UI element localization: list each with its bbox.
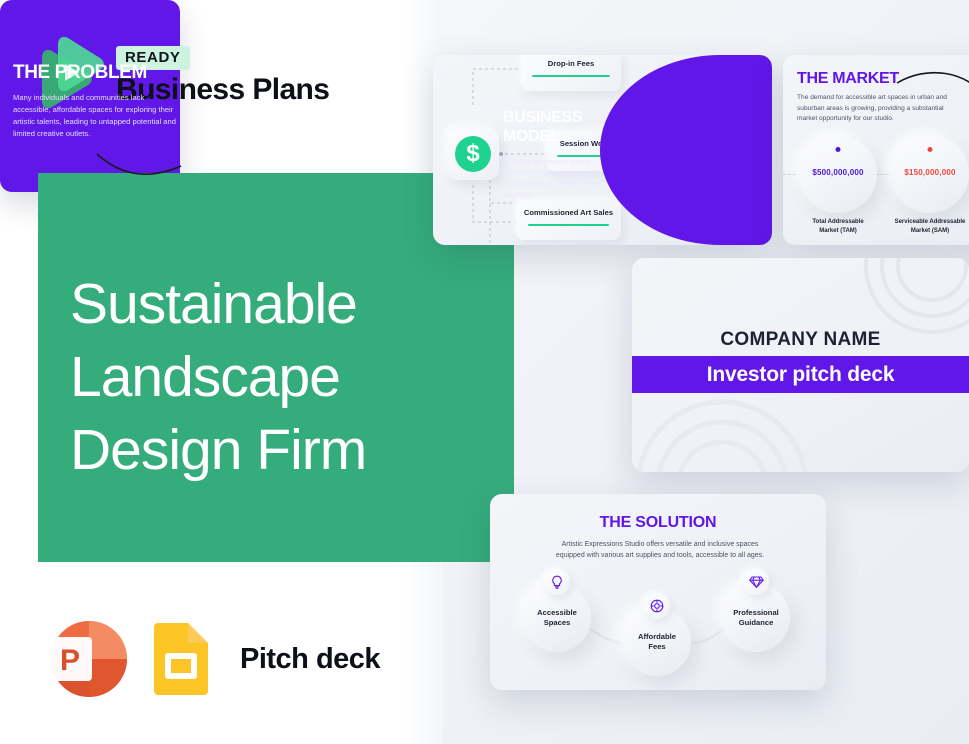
problem-curved-line [95,150,180,190]
metric-dot-icon [928,147,933,152]
page-root: READY Business Plans Sustainable Landsca… [0,0,969,744]
target-icon [644,593,670,619]
pillar-label-line-1: Accessible [523,608,591,618]
market-title: THE MARKET [797,70,899,88]
caption-line-2: Market (TAM) [795,227,881,236]
google-slides-icon [150,623,212,695]
slide-company-name[interactable]: COMPANY NAME Investor pitch deck [632,258,969,472]
market-metric-amount: $500,000,000 [799,168,877,177]
metric-dot-icon [836,147,841,152]
business-model-body: Revenue generation through diverse strea… [503,156,607,200]
market-connector-middle [876,174,892,175]
slide-the-market[interactable]: THE MARKET The demand for accessible art… [783,55,969,245]
market-metric-tam[interactable]: $500,000,000 [799,135,877,213]
underline-accent [528,224,610,226]
company-name-title: COMPANY NAME [632,329,969,351]
market-body: The demand for accessible art spaces in … [797,93,953,125]
company-subtitle: Investor pitch deck [707,363,895,387]
pillar-label-line-2: Guidance [722,618,790,628]
pillar-label: Accessible Spaces [523,608,591,628]
caption-line-1: Total Addressable [795,218,881,227]
slide-business-model[interactable]: $ Drop-in Fees Session Workshops Commiss… [433,55,772,245]
underline-accent [532,75,610,77]
pillar-label: Professional Guidance [722,608,790,628]
powerpoint-icon: P [40,618,128,700]
hero-title-line-1: Sustainable [70,268,490,341]
hero-title-line-3: Design Firm [70,414,490,487]
business-model-title-line-1: BUSINESS [503,108,603,127]
hero-title: Sustainable Landscape Design Firm [70,268,490,487]
business-model-title-line-2: MODEL [503,127,603,146]
pillar-label: Affordable Fees [623,632,691,652]
slide-the-problem[interactable]: THE PROBLEM Many individuals and communi… [0,0,180,192]
pillar-label-line-1: Affordable [623,632,691,642]
lightbulb-icon [544,569,570,595]
business-model-item-commissioned-art-sales[interactable]: Commissioned Art Sales [516,200,621,240]
business-model-center-node: $ [447,128,499,180]
caption-line-2: Market (SAM) [887,227,969,236]
business-model-item-label: Commissioned Art Sales [516,208,621,217]
business-model-item-drop-in-fees[interactable]: Drop-in Fees [521,55,621,91]
business-model-item-label: Drop-in Fees [521,59,621,68]
market-metric-caption-tam: Total Addressable Market (TAM) [795,218,881,235]
market-metric-amount: $150,000,000 [891,168,969,177]
diamond-icon [743,569,769,595]
pillar-label-line-1: Professional [722,608,790,618]
business-model-title: BUSINESS MODEL [503,108,603,146]
hero-title-line-2: Landscape [70,341,490,414]
problem-title: THE PROBLEM [13,62,147,84]
dollar-icon: $ [455,136,491,172]
problem-body: Many individuals and communities lack ac… [13,92,180,140]
pillar-label-line-2: Fees [623,642,691,652]
market-metric-caption-sam: Serviceable Addressable Market (SAM) [887,218,969,235]
market-metric-sam[interactable]: $150,000,000 [891,135,969,213]
format-row: P Pitch deck [40,618,380,700]
company-subtitle-band: Investor pitch deck [632,356,969,393]
pitch-deck-label: Pitch deck [240,643,380,676]
pillar-label-line-2: Spaces [523,618,591,628]
slide-the-solution[interactable]: THE SOLUTION Artistic Expressions Studio… [490,494,826,690]
svg-text:P: P [60,644,80,677]
caption-line-1: Serviceable Addressable [887,218,969,227]
